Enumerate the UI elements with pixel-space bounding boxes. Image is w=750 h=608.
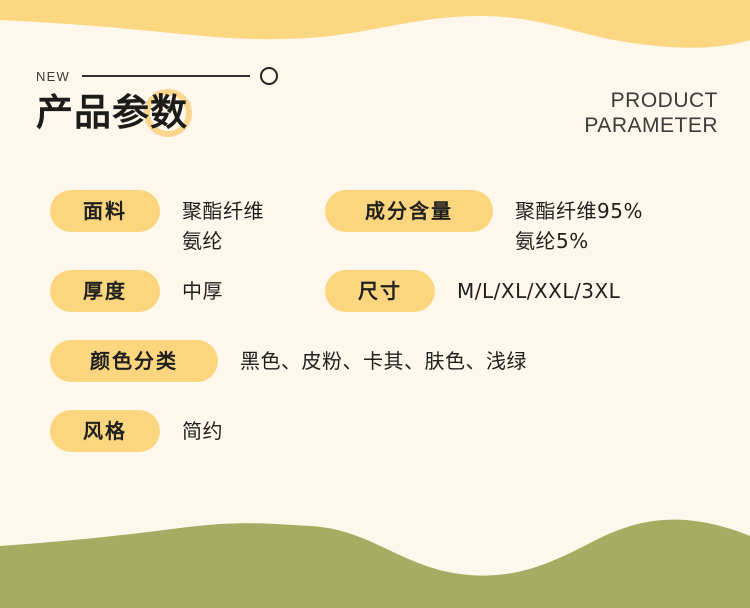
parameter-item-composition: 成分含量 聚酯纤维95% 氨纶5% <box>325 190 710 256</box>
parameter-label-pill: 成分含量 <box>325 190 493 232</box>
page-title: 产品参数 <box>36 88 188 138</box>
parameter-label-pill: 厚度 <box>50 270 160 312</box>
parameter-item-fabric: 面料 聚酯纤维 氨纶 <box>0 190 325 256</box>
parameter-list: 面料 聚酯纤维 氨纶 成分含量 聚酯纤维95% 氨纶5% 厚度 中厚 尺寸 M/… <box>0 190 750 452</box>
page-subtitle-english: PRODUCT PARAMETER <box>584 88 718 138</box>
parameter-label-pill: 颜色分类 <box>50 340 218 382</box>
header-divider-line <box>82 75 250 77</box>
eyebrow-row: NEW <box>36 66 278 86</box>
product-parameter-page: NEW 产品参数 PRODUCT PARAMETER 面料 聚酯纤维 氨纶 成分… <box>0 0 750 608</box>
parameter-row: 颜色分类 黑色、皮粉、卡其、肤色、浅绿 <box>0 340 750 382</box>
parameter-value: 聚酯纤维95% 氨纶5% <box>515 190 643 256</box>
parameter-row: 风格 简约 <box>0 410 750 452</box>
parameter-value: 黑色、皮粉、卡其、肤色、浅绿 <box>240 340 527 376</box>
parameter-value: 简约 <box>182 410 223 446</box>
parameter-row: 厚度 中厚 尺寸 M/L/XL/XXL/3XL <box>0 270 750 312</box>
parameter-value: M/L/XL/XXL/3XL <box>457 270 620 306</box>
circle-outline-icon <box>260 67 278 85</box>
page-title-wrap: 产品参数 <box>36 88 188 142</box>
parameter-label-pill: 面料 <box>50 190 160 232</box>
subtitle-line-2: PARAMETER <box>584 113 718 138</box>
parameter-value: 聚酯纤维 氨纶 <box>182 190 264 256</box>
parameter-label-pill: 风格 <box>50 410 160 452</box>
parameter-item-thickness: 厚度 中厚 <box>0 270 325 312</box>
parameter-label-pill: 尺寸 <box>325 270 435 312</box>
parameter-row: 面料 聚酯纤维 氨纶 成分含量 聚酯纤维95% 氨纶5% <box>0 190 750 256</box>
parameter-item-style: 风格 简约 <box>0 410 700 452</box>
subtitle-line-1: PRODUCT <box>584 88 718 113</box>
parameter-item-size: 尺寸 M/L/XL/XXL/3XL <box>325 270 710 312</box>
parameter-item-color: 颜色分类 黑色、皮粉、卡其、肤色、浅绿 <box>0 340 700 382</box>
page-header: NEW 产品参数 PRODUCT PARAMETER <box>0 0 750 175</box>
parameter-value: 中厚 <box>182 270 223 306</box>
new-badge-label: NEW <box>36 70 70 83</box>
bottom-wave-decoration <box>0 486 750 608</box>
